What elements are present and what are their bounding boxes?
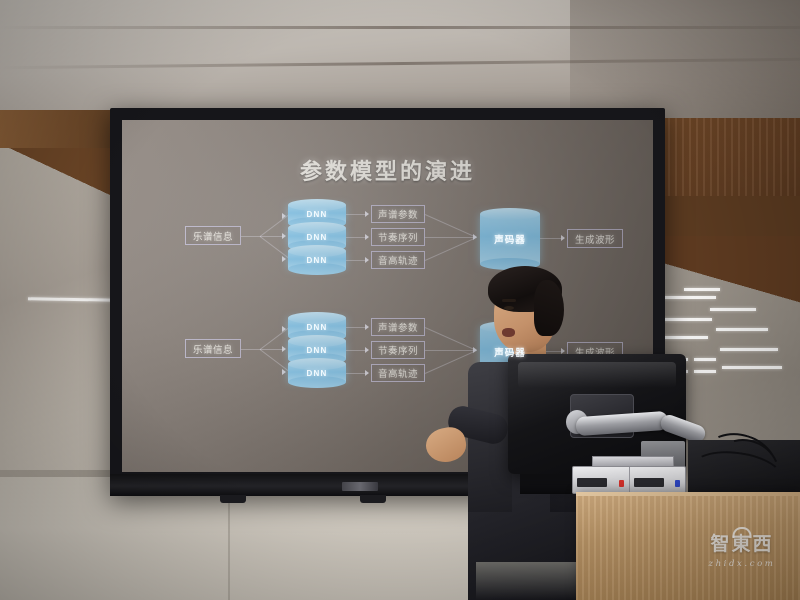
watermark: 智東西 zhidx.com [690, 535, 794, 589]
connector [346, 260, 368, 261]
connector [346, 350, 368, 351]
presenter-eye [504, 306, 514, 310]
vocoder-node: 声码器 [480, 208, 540, 270]
connector [425, 237, 477, 261]
arrow-head [365, 234, 369, 240]
wifi-arc-icon [733, 527, 752, 538]
dnn-label: DNN [288, 245, 346, 275]
arrow-head [282, 213, 286, 219]
connector [540, 238, 564, 239]
glass-stripe-decal [28, 297, 120, 302]
glass-stripe-decal [684, 288, 720, 291]
arrow-head [365, 211, 369, 217]
input-label-row2: 乐谱信息 [185, 339, 241, 358]
unit-display [577, 478, 607, 487]
connector [241, 236, 261, 237]
connector [241, 349, 261, 350]
screen-foot [360, 495, 386, 503]
connector [346, 373, 368, 374]
vocoder-node: 声码器 [480, 321, 540, 383]
glass-stripe-decal [694, 370, 716, 373]
glass-stripe-decal [710, 308, 756, 311]
connector [346, 214, 368, 215]
glass-stripe-decal [694, 358, 716, 361]
vocoder-label: 声码器 [480, 321, 540, 383]
arrow-head [282, 233, 286, 239]
connector [260, 214, 290, 237]
glass-stripe-decal [716, 328, 768, 331]
arrow-head [365, 257, 369, 263]
feature-label: 音高轨迹 [371, 251, 425, 269]
arrow-head [365, 347, 369, 353]
connector [260, 236, 290, 259]
arrow-head [365, 324, 369, 330]
arrow-head [561, 235, 565, 241]
feature-label: 节奏序列 [371, 341, 425, 359]
connector [260, 349, 284, 350]
arrow-head [365, 370, 369, 376]
connector [260, 349, 290, 372]
arrow-head [473, 234, 477, 240]
wood-corner [0, 148, 120, 228]
rack-units [572, 466, 686, 494]
rack-unit [630, 467, 686, 493]
feature-label: 音高轨迹 [371, 364, 425, 382]
podium-edge [576, 492, 800, 496]
presenter-brow [502, 299, 516, 302]
arrow-head [282, 346, 286, 352]
screen-brand-badge [342, 482, 378, 491]
status-led [675, 480, 680, 487]
dnn-node: DNN [288, 245, 346, 275]
presentation-room-photo: 参数模型的演进 乐谱信息 DNN [0, 0, 800, 600]
connector [425, 237, 477, 238]
connector [346, 237, 368, 238]
vocoder-label: 声码器 [480, 208, 540, 270]
presenter-legs [476, 562, 580, 600]
output-label: 生成波形 [567, 229, 623, 248]
screen-foot [220, 495, 246, 503]
slide-title: 参数模型的演进 [122, 154, 653, 186]
unit-display [634, 478, 664, 487]
dnn-label: DNN [288, 358, 346, 388]
arrow-head [282, 369, 286, 375]
feature-label: 声谱参数 [371, 318, 425, 336]
rack-unit [573, 467, 630, 493]
connector [425, 214, 477, 238]
watermark-url: zhidx.com [690, 559, 794, 569]
connector [260, 327, 290, 350]
feature-label: 声谱参数 [371, 205, 425, 223]
connector [346, 327, 368, 328]
input-label-row1: 乐谱信息 [185, 226, 241, 245]
connector [260, 236, 284, 237]
arrow-head [282, 256, 286, 262]
frosted-glass-left [0, 148, 120, 498]
status-led [619, 480, 624, 487]
glass-stripe-decal [722, 366, 782, 369]
feature-label: 节奏序列 [371, 228, 425, 246]
arrow-head [282, 326, 286, 332]
dnn-node: DNN [288, 358, 346, 388]
glass-stripe-decal [720, 348, 778, 351]
